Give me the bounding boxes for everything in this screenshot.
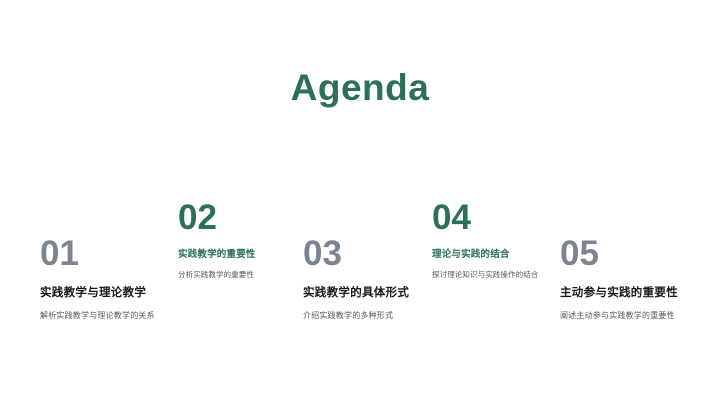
agenda-item-description: 探讨理论知识与实践操作的结合	[432, 269, 538, 280]
agenda-item-number: 01	[40, 236, 155, 271]
agenda-item-title: 实践教学的具体形式	[303, 284, 409, 300]
agenda-item-title: 实践教学与理论教学	[40, 284, 155, 300]
agenda-item-description: 阐述主动参与实践教学的重要性	[560, 310, 678, 321]
agenda-item-01[interactable]: 01 实践教学与理论教学 解析实践教学与理论教学的关系	[40, 236, 155, 321]
agenda-item-description: 解析实践教学与理论教学的关系	[40, 310, 155, 321]
agenda-item-02[interactable]: 02 实践教学的重要性 分析实践教学的重要性	[178, 200, 256, 280]
agenda-item-05[interactable]: 05 主动参与实践的重要性 阐述主动参与实践教学的重要性	[560, 236, 678, 321]
agenda-item-number: 02	[178, 200, 256, 235]
agenda-item-03[interactable]: 03 实践教学的具体形式 介绍实践教学的多种形式	[303, 236, 409, 321]
agenda-item-04[interactable]: 04 理论与实践的结合 探讨理论知识与实践操作的结合	[432, 200, 538, 280]
agenda-item-title: 主动参与实践的重要性	[560, 284, 678, 300]
agenda-item-title: 实践教学的重要性	[178, 246, 256, 260]
agenda-slide: Agenda 01 实践教学与理论教学 解析实践教学与理论教学的关系 02 实践…	[0, 0, 720, 404]
page-title: Agenda	[0, 66, 720, 110]
agenda-item-description: 介绍实践教学的多种形式	[303, 310, 409, 321]
agenda-item-description: 分析实践教学的重要性	[178, 269, 256, 280]
agenda-item-number: 05	[560, 236, 678, 271]
agenda-item-number: 04	[432, 200, 538, 235]
agenda-item-title: 理论与实践的结合	[432, 246, 538, 260]
agenda-item-number: 03	[303, 236, 409, 271]
